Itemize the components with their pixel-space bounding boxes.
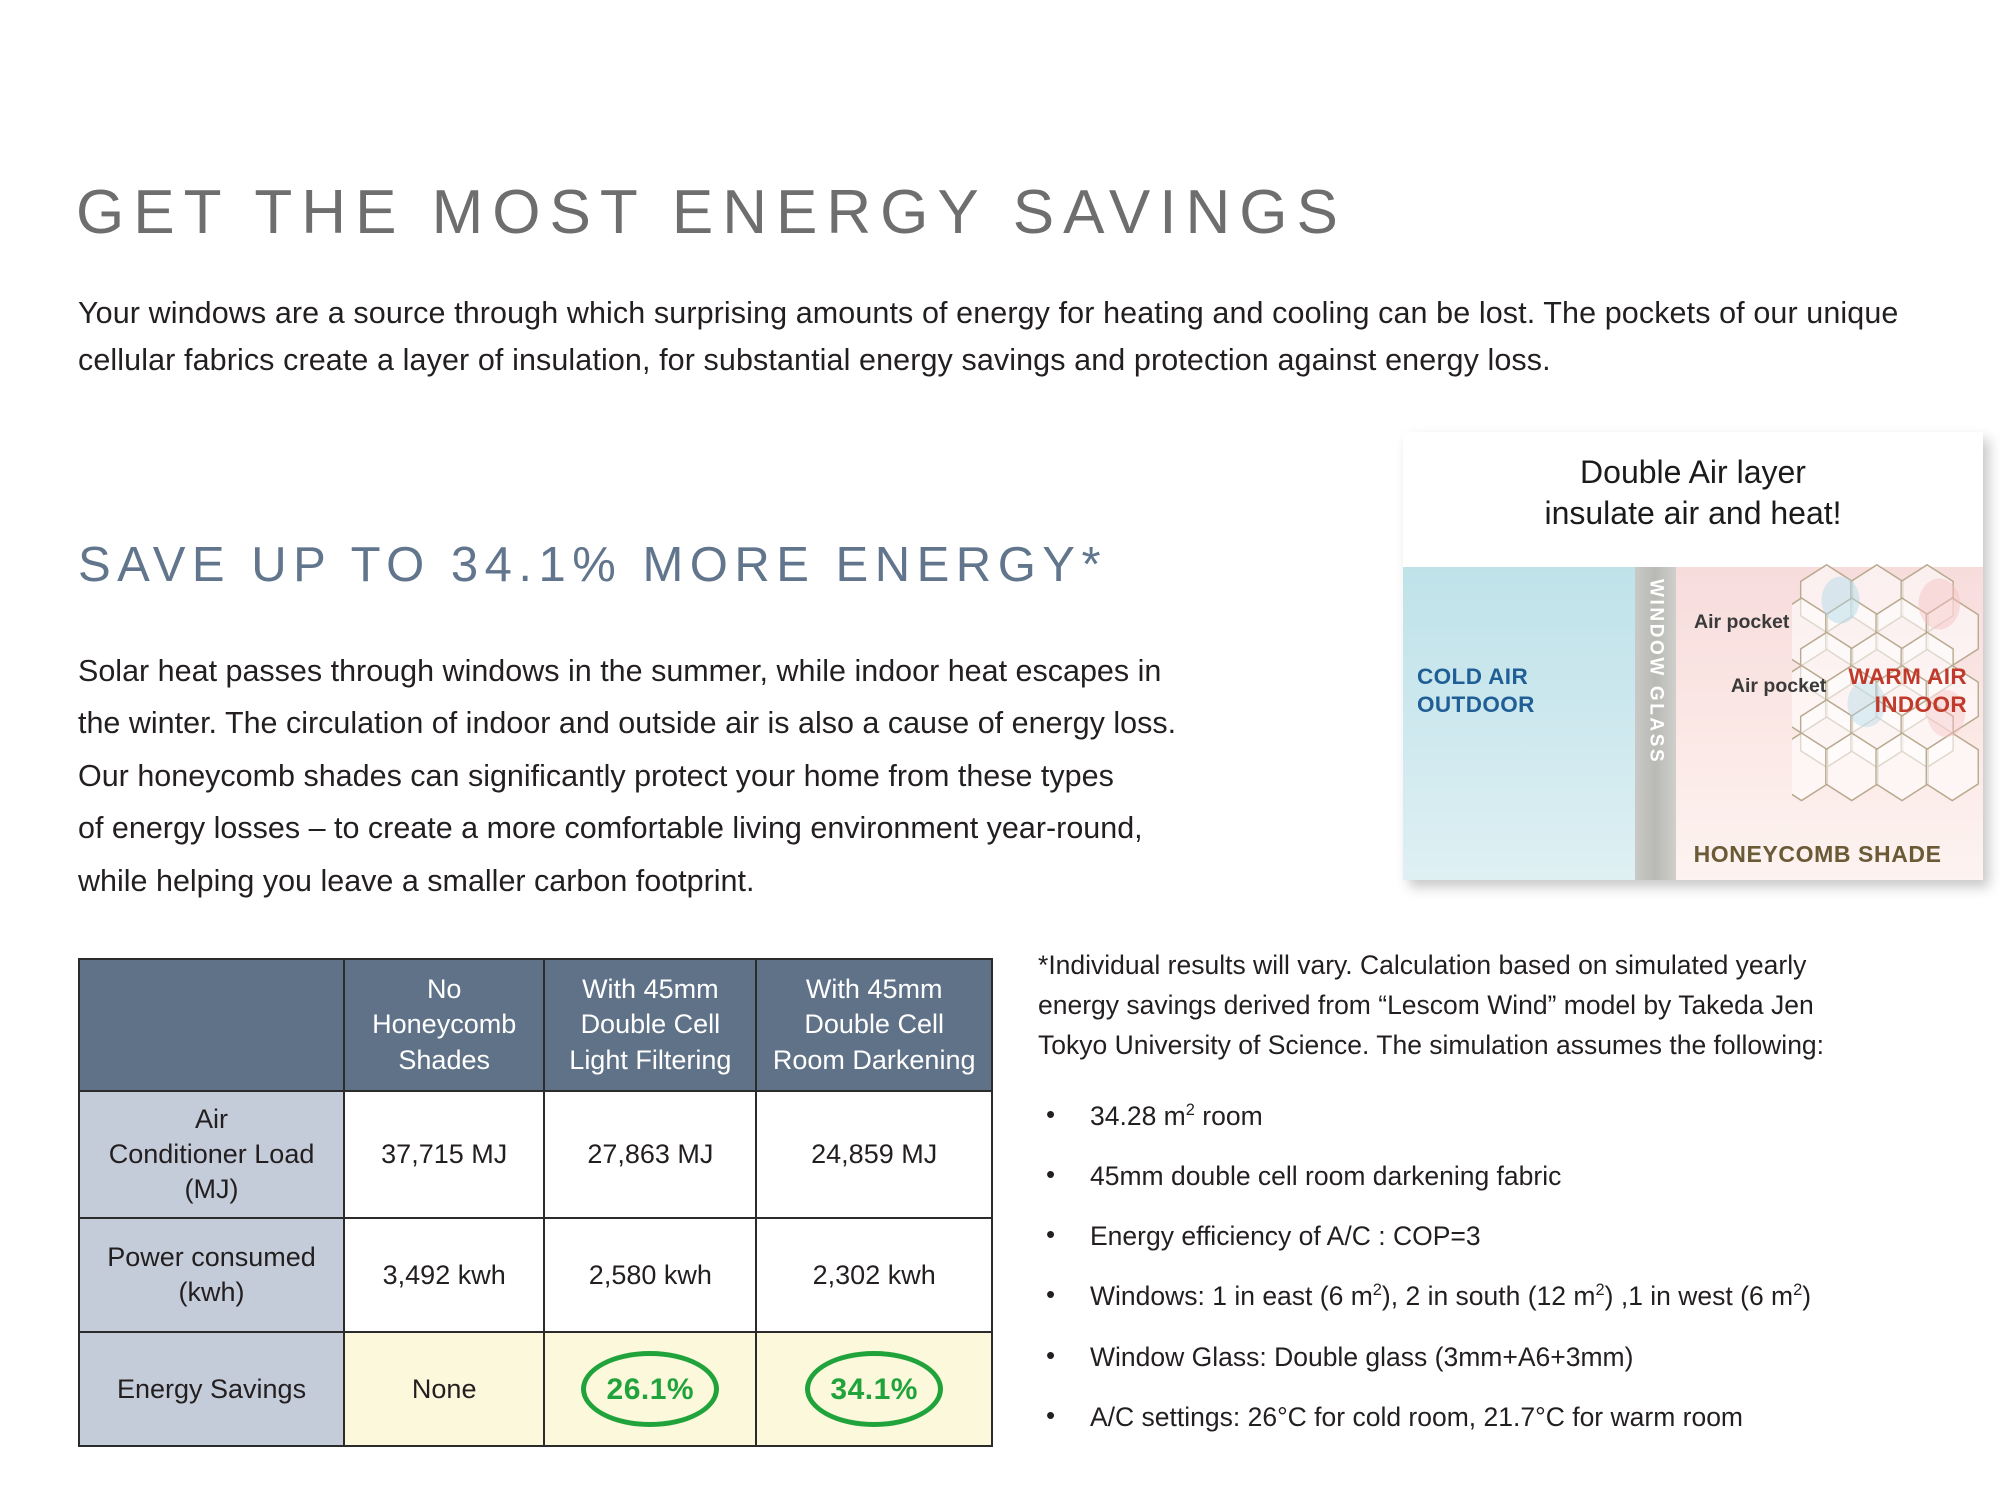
assumptions-list: 34.28 m2 room 45mm double cell room dark…: [1038, 1100, 1938, 1461]
illustration-body: COLD AIR OUTDOOR WINDOW GLASS: [1403, 567, 1983, 880]
honeycomb-shade-label: HONEYCOMB SHADE: [1694, 841, 1942, 868]
cell-ac-load-no-shades: 37,715 MJ: [344, 1091, 544, 1218]
cold-air-label-line-1: COLD AIR: [1417, 663, 1535, 691]
energy-comparison-table: No Honeycomb Shades With 45mm Double Cel…: [78, 958, 993, 1447]
cell-power-no-shades: 3,492 kwh: [344, 1218, 544, 1332]
air-pocket-label-1: Air pocket: [1694, 611, 1789, 634]
body-line-1: Solar heat passes through windows in the…: [78, 645, 1308, 697]
col-header-line-2: Honeycomb: [351, 1007, 537, 1042]
table-corner-cell: [79, 959, 344, 1091]
col-header-line-3: Light Filtering: [551, 1043, 749, 1078]
cold-air-label-line-2: OUTDOOR: [1417, 691, 1535, 719]
footnote-line-2: energy savings derived from “Lescom Wind…: [1038, 986, 1918, 1026]
list-item: Windows: 1 in east (6 m2), 2 in south (1…: [1038, 1280, 1938, 1313]
footnote-line-1: *Individual results will vary. Calculati…: [1038, 946, 1918, 986]
col-header-line-2: Double Cell: [763, 1007, 985, 1042]
window-glass-label: WINDOW GLASS: [1644, 579, 1666, 764]
bullet-windows-p3: ) ,1 in west (6 m: [1605, 1281, 1794, 1311]
brochure-page: GET THE MOST ENERGY SAVINGS Your windows…: [0, 0, 2000, 1500]
column-header-light-filtering: With 45mm Double Cell Light Filtering: [544, 959, 756, 1091]
bullet-windows-p2: ), 2 in south (12 m: [1382, 1281, 1596, 1311]
cell-savings-room-darkening: 34.1%: [756, 1332, 992, 1446]
warm-air-label-line-2: INDOOR: [1848, 691, 1967, 719]
list-item: 34.28 m2 room: [1038, 1100, 1938, 1133]
cell-power-light-filtering: 2,580 kwh: [544, 1218, 756, 1332]
column-header-no-shades: No Honeycomb Shades: [344, 959, 544, 1091]
intro-paragraph: Your windows are a source through which …: [78, 290, 1978, 383]
table-row: Air Conditioner Load (MJ) 37,715 MJ 27,8…: [79, 1091, 992, 1218]
bullet-windows-s1: 2: [1373, 1282, 1382, 1300]
footnote-line-3: Tokyo University of Science. The simulat…: [1038, 1026, 1918, 1066]
list-item: Window Glass: Double glass (3mm+A6+3mm): [1038, 1341, 1938, 1374]
cell-power-room-darkening: 2,302 kwh: [756, 1218, 992, 1332]
bullet-room-area-sup: 2: [1186, 1101, 1195, 1119]
bullet-windows-p1: Windows: 1 in east (6 m: [1090, 1281, 1373, 1311]
warm-air-zone: Air pocket Air pocket WARM AIR INDOOR HO…: [1676, 567, 1983, 880]
warm-air-label-line-1: WARM AIR: [1848, 663, 1967, 691]
body-line-4: of energy losses – to create a more comf…: [78, 802, 1308, 854]
table-row: Energy Savings None 26.1% 34.1%: [79, 1332, 992, 1446]
body-paragraph: Solar heat passes through windows in the…: [78, 645, 1308, 907]
window-glass-zone: WINDOW GLASS: [1635, 567, 1676, 880]
savings-headline: SAVE UP TO 34.1% MORE ENERGY*: [78, 541, 1107, 590]
row-header-line-1: Power consumed: [86, 1240, 337, 1275]
warm-air-label: WARM AIR INDOOR: [1848, 663, 1967, 719]
bullet-room-area-pre: 34.28 m: [1090, 1101, 1186, 1131]
bullet-windows-s2: 2: [1596, 1282, 1605, 1300]
cell-ac-load-light-filtering: 27,863 MJ: [544, 1091, 756, 1218]
savings-badge-room-darkening: 34.1%: [805, 1351, 943, 1427]
list-item: A/C settings: 26°C for cold room, 21.7°C…: [1038, 1401, 1938, 1434]
row-header-line-2: (kwh): [86, 1275, 337, 1310]
cell-savings-no-shades: None: [344, 1332, 544, 1446]
row-header-ac-load: Air Conditioner Load (MJ): [79, 1091, 344, 1218]
row-header-line-3: (MJ): [86, 1172, 337, 1207]
col-header-line-1: With 45mm: [551, 972, 749, 1007]
row-header-energy-savings: Energy Savings: [79, 1332, 344, 1446]
body-line-5: while helping you leave a smaller carbon…: [78, 855, 1308, 907]
table-row: Power consumed (kwh) 3,492 kwh 2,580 kwh…: [79, 1218, 992, 1332]
col-header-line-3: Room Darkening: [763, 1043, 985, 1078]
illustration-caption-line-2: insulate air and heat!: [1403, 493, 1983, 534]
list-item: Energy efficiency of A/C : COP=3: [1038, 1220, 1938, 1253]
column-header-room-darkening: With 45mm Double Cell Room Darkening: [756, 959, 992, 1091]
footnote-block: *Individual results will vary. Calculati…: [1038, 946, 1918, 1065]
list-item: 45mm double cell room darkening fabric: [1038, 1160, 1938, 1193]
cell-savings-light-filtering: 26.1%: [544, 1332, 756, 1446]
col-header-line-1: No: [351, 972, 537, 1007]
col-header-line-2: Double Cell: [551, 1007, 749, 1042]
body-line-3: Our honeycomb shades can significantly p…: [78, 750, 1308, 802]
cold-air-label: COLD AIR OUTDOOR: [1417, 663, 1535, 719]
table-header-row: No Honeycomb Shades With 45mm Double Cel…: [79, 959, 992, 1091]
col-header-line-3: Shades: [351, 1043, 537, 1078]
cell-ac-load-room-darkening: 24,859 MJ: [756, 1091, 992, 1218]
illustration-caption-line-1: Double Air layer: [1403, 452, 1983, 493]
savings-badge-light-filtering: 26.1%: [581, 1351, 719, 1427]
bullet-room-area-post: room: [1195, 1101, 1263, 1131]
page-title: GET THE MOST ENERGY SAVINGS: [76, 182, 1347, 244]
bullet-windows-s3: 2: [1793, 1282, 1802, 1300]
col-header-line-1: With 45mm: [763, 972, 985, 1007]
bullet-windows-p4: ): [1802, 1281, 1811, 1311]
row-header-power-consumed: Power consumed (kwh): [79, 1218, 344, 1332]
body-line-2: the winter. The circulation of indoor an…: [78, 697, 1308, 749]
cold-air-zone: COLD AIR OUTDOOR: [1403, 567, 1635, 880]
air-pocket-label-2: Air pocket: [1731, 675, 1826, 698]
double-air-layer-illustration: Double Air layer insulate air and heat! …: [1403, 432, 1983, 880]
row-header-line-1: Air: [86, 1102, 337, 1137]
illustration-caption: Double Air layer insulate air and heat!: [1403, 452, 1983, 534]
row-header-line-2: Conditioner Load: [86, 1137, 337, 1172]
